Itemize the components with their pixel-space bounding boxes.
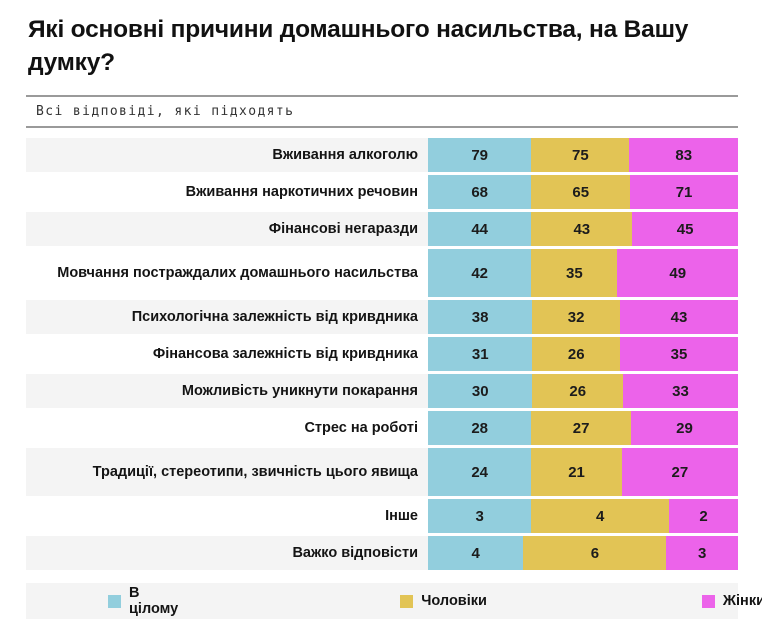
- bar-segment-чоловіки: 75: [531, 138, 629, 172]
- bar-segment-чоловіки: 26: [532, 337, 620, 371]
- bar-segment-чоловіки: 4: [531, 499, 669, 533]
- subtitle-text: Всі відповіді, які підходять: [36, 104, 738, 119]
- chart-row-label: Фінансові негаразди: [26, 212, 428, 246]
- bar-segment-жінки: 49: [617, 249, 738, 297]
- bar-segment-жінки: 33: [623, 374, 738, 408]
- chart-row-bars: 342: [428, 499, 738, 533]
- chart-row: Мовчання постраждалих домашнього насильс…: [26, 249, 738, 297]
- bar-segment-в-цілому: 30: [428, 374, 532, 408]
- chart-row: Фінансова залежність від кривдника312635: [26, 337, 738, 371]
- bar-segment-в-цілому: 31: [428, 337, 532, 371]
- legend-label: Жінки: [723, 593, 762, 609]
- chart-row-label: Мовчання постраждалих домашнього насильс…: [26, 249, 428, 297]
- chart-legend: В ціломуЧоловікиЖінки: [26, 583, 738, 619]
- chart-row: Можливість уникнути покарання302633: [26, 374, 738, 408]
- chart-row-bars: 242127: [428, 448, 738, 496]
- bar-segment-жінки: 3: [666, 536, 738, 570]
- chart-row-label: Важко відповісти: [26, 536, 428, 570]
- chart-row-label: Можливість уникнути покарання: [26, 374, 428, 408]
- legend-item[interactable]: Жінки: [702, 593, 762, 609]
- chart-row: Психологічна залежність від кривдника383…: [26, 300, 738, 334]
- bar-segment-в-цілому: 68: [428, 175, 531, 209]
- chart-row-label: Інше: [26, 499, 428, 533]
- chart-row-label: Вживання наркотичних речовин: [26, 175, 428, 209]
- bar-segment-жінки: 43: [620, 300, 738, 334]
- bar-segment-чоловіки: 21: [531, 448, 621, 496]
- bar-segment-жінки: 2: [669, 499, 738, 533]
- chart-row-label: Психологічна залежність від кривдника: [26, 300, 428, 334]
- bar-segment-в-цілому: 3: [428, 499, 531, 533]
- bar-segment-чоловіки: 65: [531, 175, 630, 209]
- chart-row-bars: 463: [428, 536, 738, 570]
- bar-segment-чоловіки: 26: [532, 374, 623, 408]
- chart-row: Вживання наркотичних речовин686571: [26, 175, 738, 209]
- chart-row: Важко відповісти463: [26, 536, 738, 570]
- legend-swatch-icon: [702, 595, 715, 608]
- bar-segment-в-цілому: 28: [428, 411, 531, 445]
- chart-rows: Вживання алкоголю797583Вживання наркотич…: [26, 138, 738, 570]
- chart-row-bars: 383243: [428, 300, 738, 334]
- bar-segment-чоловіки: 43: [531, 212, 632, 246]
- chart-row: Стрес на роботі282729: [26, 411, 738, 445]
- chart-row-bars: 686571: [428, 175, 738, 209]
- subtitle-band: Всі відповіді, які підходять: [26, 95, 738, 128]
- bar-segment-жінки: 29: [631, 411, 738, 445]
- bar-segment-жінки: 35: [620, 337, 738, 371]
- chart-row-bars: 444345: [428, 212, 738, 246]
- chart-row-bars: 282729: [428, 411, 738, 445]
- bar-segment-в-цілому: 38: [428, 300, 532, 334]
- bar-segment-чоловіки: 35: [531, 249, 617, 297]
- bar-segment-жінки: 83: [629, 138, 738, 172]
- chart-row-label: Вживання алкоголю: [26, 138, 428, 172]
- chart-row-bars: 797583: [428, 138, 738, 172]
- bar-segment-чоловіки: 6: [523, 536, 666, 570]
- bar-segment-в-цілому: 4: [428, 536, 523, 570]
- bar-segment-в-цілому: 79: [428, 138, 531, 172]
- chart-row: Вживання алкоголю797583: [26, 138, 738, 172]
- bar-segment-чоловіки: 27: [531, 411, 631, 445]
- legend-label: Чоловіки: [421, 593, 487, 609]
- chart-row-bars: 312635: [428, 337, 738, 371]
- legend-swatch-icon: [400, 595, 413, 608]
- chart-row-bars: 423549: [428, 249, 738, 297]
- chart-row: Фінансові негаразди444345: [26, 212, 738, 246]
- bar-segment-жінки: 71: [630, 175, 738, 209]
- chart-row: Традиції, стереотипи, звичність цього яв…: [26, 448, 738, 496]
- chart-row-label: Стрес на роботі: [26, 411, 428, 445]
- chart-row-label: Традиції, стереотипи, звичність цього яв…: [26, 448, 428, 496]
- bar-segment-жінки: 27: [622, 448, 738, 496]
- bar-segment-в-цілому: 24: [428, 448, 531, 496]
- bar-segment-в-цілому: 44: [428, 212, 531, 246]
- bar-segment-чоловіки: 32: [532, 300, 620, 334]
- legend-label: В цілому: [129, 585, 178, 617]
- chart-row: Інше342: [26, 499, 738, 533]
- page-title: Які основні причини домашнього насильств…: [0, 0, 762, 79]
- legend-item[interactable]: В цілому: [108, 585, 178, 617]
- legend-swatch-icon: [108, 595, 121, 608]
- bar-segment-жінки: 45: [632, 212, 738, 246]
- legend-item[interactable]: Чоловіки: [400, 593, 487, 609]
- chart-row-label: Фінансова залежність від кривдника: [26, 337, 428, 371]
- bar-segment-в-цілому: 42: [428, 249, 531, 297]
- chart-row-bars: 302633: [428, 374, 738, 408]
- chart-page: Які основні причини домашнього насильств…: [0, 0, 762, 604]
